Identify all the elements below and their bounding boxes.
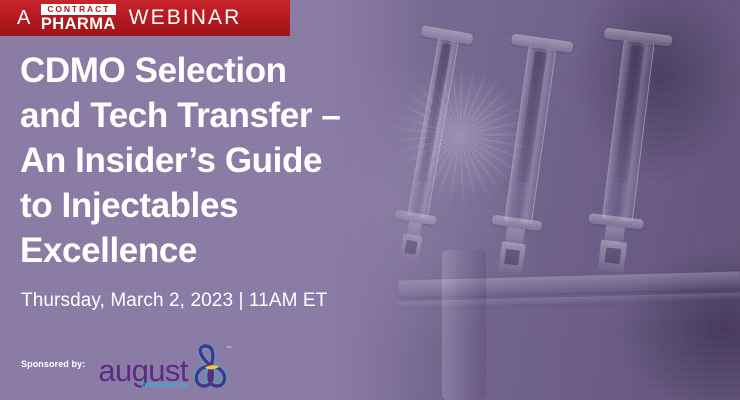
syringe-plunger [614,45,644,184]
syringe-flange [511,33,574,53]
banner-webinar-label: WEBINAR [129,6,242,30]
foreground-vial [442,250,486,400]
headline-line-3: An Insider’s Guide [20,138,410,183]
syringe-tip [505,227,525,247]
page-title: CDMO Selection and Tech Transfer – An In… [20,48,410,273]
webinar-promo-banner: A CONTRACT PHARMA WEBINAR CDMO Selection… [0,0,740,400]
syringe-cap [498,241,526,274]
publication-banner: A CONTRACT PHARMA WEBINAR [0,0,290,36]
syringe-cap [598,240,627,273]
banner-article: A [17,7,31,30]
logo-pharma-text: PHARMA [41,16,116,33]
syringe-barrel [602,40,655,222]
syringe-tip [604,225,625,245]
syringe-barrel [504,46,556,224]
headline-line-2: and Tech Transfer – [20,93,410,138]
headline-line-4: to Injectables [20,183,410,228]
sponsor-section: Sponsored by: august bioservices ™ [21,344,231,386]
headline-line-1: CDMO Selection [20,48,410,93]
contract-pharma-logo: CONTRACT PHARMA [41,4,116,33]
syringe-plunger [418,43,451,182]
cap-window [605,247,622,264]
syringe-finger-grip [491,215,542,232]
syringe-barrel [407,38,459,219]
sponsor-tagline: bioservices [141,380,188,389]
syringe-plunger [517,51,547,183]
syringe-tray-lip [398,293,740,309]
syringe-tray [398,272,740,298]
sponsored-by-label: Sponsored by: [21,359,85,371]
august-bioservices-logo[interactable]: august bioservices ™ [98,344,230,386]
cap-window [504,249,520,266]
syringe-flange [604,28,673,47]
logo-contract-text: CONTRACT [41,4,116,15]
infinity-loop-icon: ™ [191,344,231,388]
trademark-symbol: ™ [226,346,232,352]
event-datetime: Thursday, March 2, 2023 | 11AM ET [21,290,327,312]
syringe-flange [420,25,473,45]
lens-glow [395,70,525,200]
syringe-finger-grip [588,213,644,230]
headline-line-5: Excellence [20,228,410,273]
